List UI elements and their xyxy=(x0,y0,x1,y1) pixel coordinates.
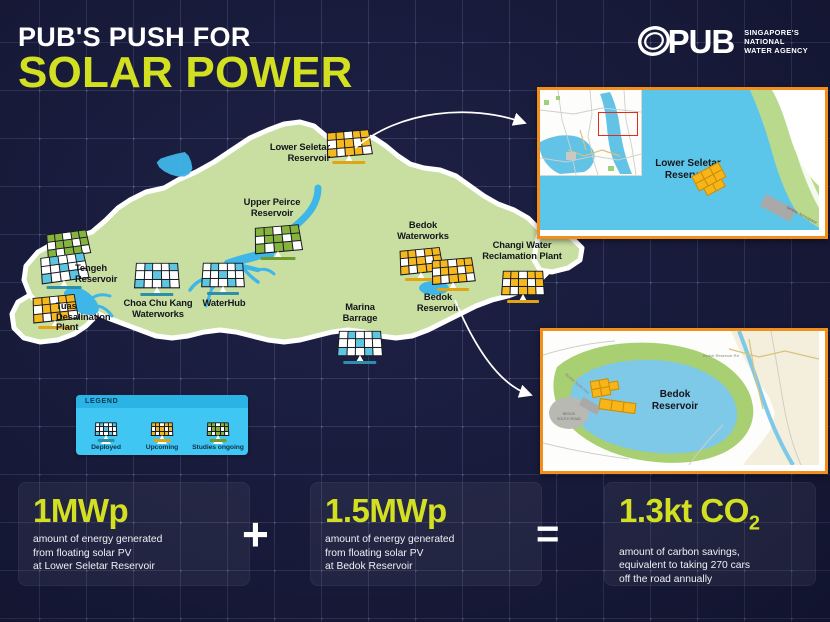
map-marker-lower-seletar[interactable] xyxy=(327,130,371,164)
pub-wordmark: PUB xyxy=(668,25,735,58)
stat-description-1: amount of energy generated from floating… xyxy=(33,533,235,574)
stat-card-bedok: 1.5MWp amount of energy generated from f… xyxy=(310,482,542,586)
statistics-row: 1MWp amount of energy generated from flo… xyxy=(0,470,830,600)
svg-text:SOUTH ROAD: SOUTH ROAD xyxy=(557,417,581,421)
legend-label-upcoming: Upcoming xyxy=(134,444,190,451)
stat-card-carbon-savings: 1.3kt CO2 amount of carbon savings, equi… xyxy=(604,482,816,586)
legend-label-studies-ongoing: Studies ongoing xyxy=(190,444,246,451)
legend-item-deployed[interactable]: Deployed xyxy=(78,413,134,451)
pub-logo: PUB SINGAPORE'S NATIONAL WATER AGENCY xyxy=(637,24,808,58)
stat-value-1: 1MWp xyxy=(33,493,235,529)
map-marker-choa-chu-kang[interactable] xyxy=(135,262,179,296)
inset-map-bedok[interactable]: BEDOK SOUTH ROAD Bedok Reservoir Rd Bedo… xyxy=(540,328,828,474)
map-label-changi-water-reclamation-plant: Changi Water Reclamation Plant xyxy=(464,240,580,261)
solar-panel-deployed-icon xyxy=(95,413,117,442)
locator-highlight-box xyxy=(598,112,638,136)
infographic-canvas: PUB'S PUSH FOR SOLAR POWER PUB SINGAPORE… xyxy=(0,0,830,622)
inset-top-locator-map xyxy=(540,90,642,176)
legend-item-upcoming[interactable]: Upcoming xyxy=(134,413,190,451)
stat-description-2: amount of energy generated from floating… xyxy=(325,533,527,574)
map-marker-bedok-reservoir[interactable] xyxy=(432,258,474,291)
map-label-lower-seletar-reservoir: Lower Seletar Reservoir xyxy=(250,142,330,163)
operator-plus: + xyxy=(242,514,269,554)
stat-value-2: 1.5MWp xyxy=(325,493,527,529)
pub-tagline: SINGAPORE'S NATIONAL WATER AGENCY xyxy=(744,28,808,56)
map-label-marina-barrage: Marina Barrage xyxy=(320,302,400,323)
map-marker-upper-peirce[interactable] xyxy=(255,225,301,260)
solar-panel-upcoming-icon xyxy=(151,413,173,442)
legend: LEGEND Deployed xyxy=(76,395,248,455)
solar-panel-studies-icon xyxy=(207,413,229,442)
map-marker-waterhub[interactable] xyxy=(202,262,244,295)
map-label-waterhub: WaterHub xyxy=(185,298,263,309)
pub-ring-icon xyxy=(637,24,671,58)
map-label-upper-peirce-reservoir: Upper Peirce Reservoir xyxy=(222,197,322,218)
inset-map-lower-seletar[interactable]: Seletar Aerospace xyxy=(537,87,828,239)
legend-label-deployed: Deployed xyxy=(78,444,134,451)
singapore-map: Tengeh Reservoir Tuas Desalination Plant… xyxy=(0,80,600,420)
legend-item-studies-ongoing[interactable]: Studies ongoing xyxy=(190,413,246,451)
stat-value-3: 1.3kt CO2 xyxy=(619,493,801,542)
map-label-bedok-reservoir: Bedok Reservoir xyxy=(398,292,478,313)
stat-description-3: amount of carbon savings, equivalent to … xyxy=(619,546,801,587)
operator-equals: = xyxy=(536,514,559,554)
svg-text:Bedok Reservoir Rd: Bedok Reservoir Rd xyxy=(703,353,739,358)
svg-text:BEDOK: BEDOK xyxy=(563,412,576,416)
map-marker-marina-barrage[interactable] xyxy=(338,330,382,364)
stat-value-3-main: 1.3kt CO xyxy=(619,492,749,529)
map-label-bedok-waterworks: Bedok Waterworks xyxy=(383,220,463,241)
stat-card-lower-seletar: 1MWp amount of energy generated from flo… xyxy=(18,482,250,586)
map-marker-changi-wrp[interactable] xyxy=(502,270,544,303)
stat-value-3-subscript: 2 xyxy=(749,513,760,535)
legend-title: LEGEND xyxy=(76,395,248,408)
